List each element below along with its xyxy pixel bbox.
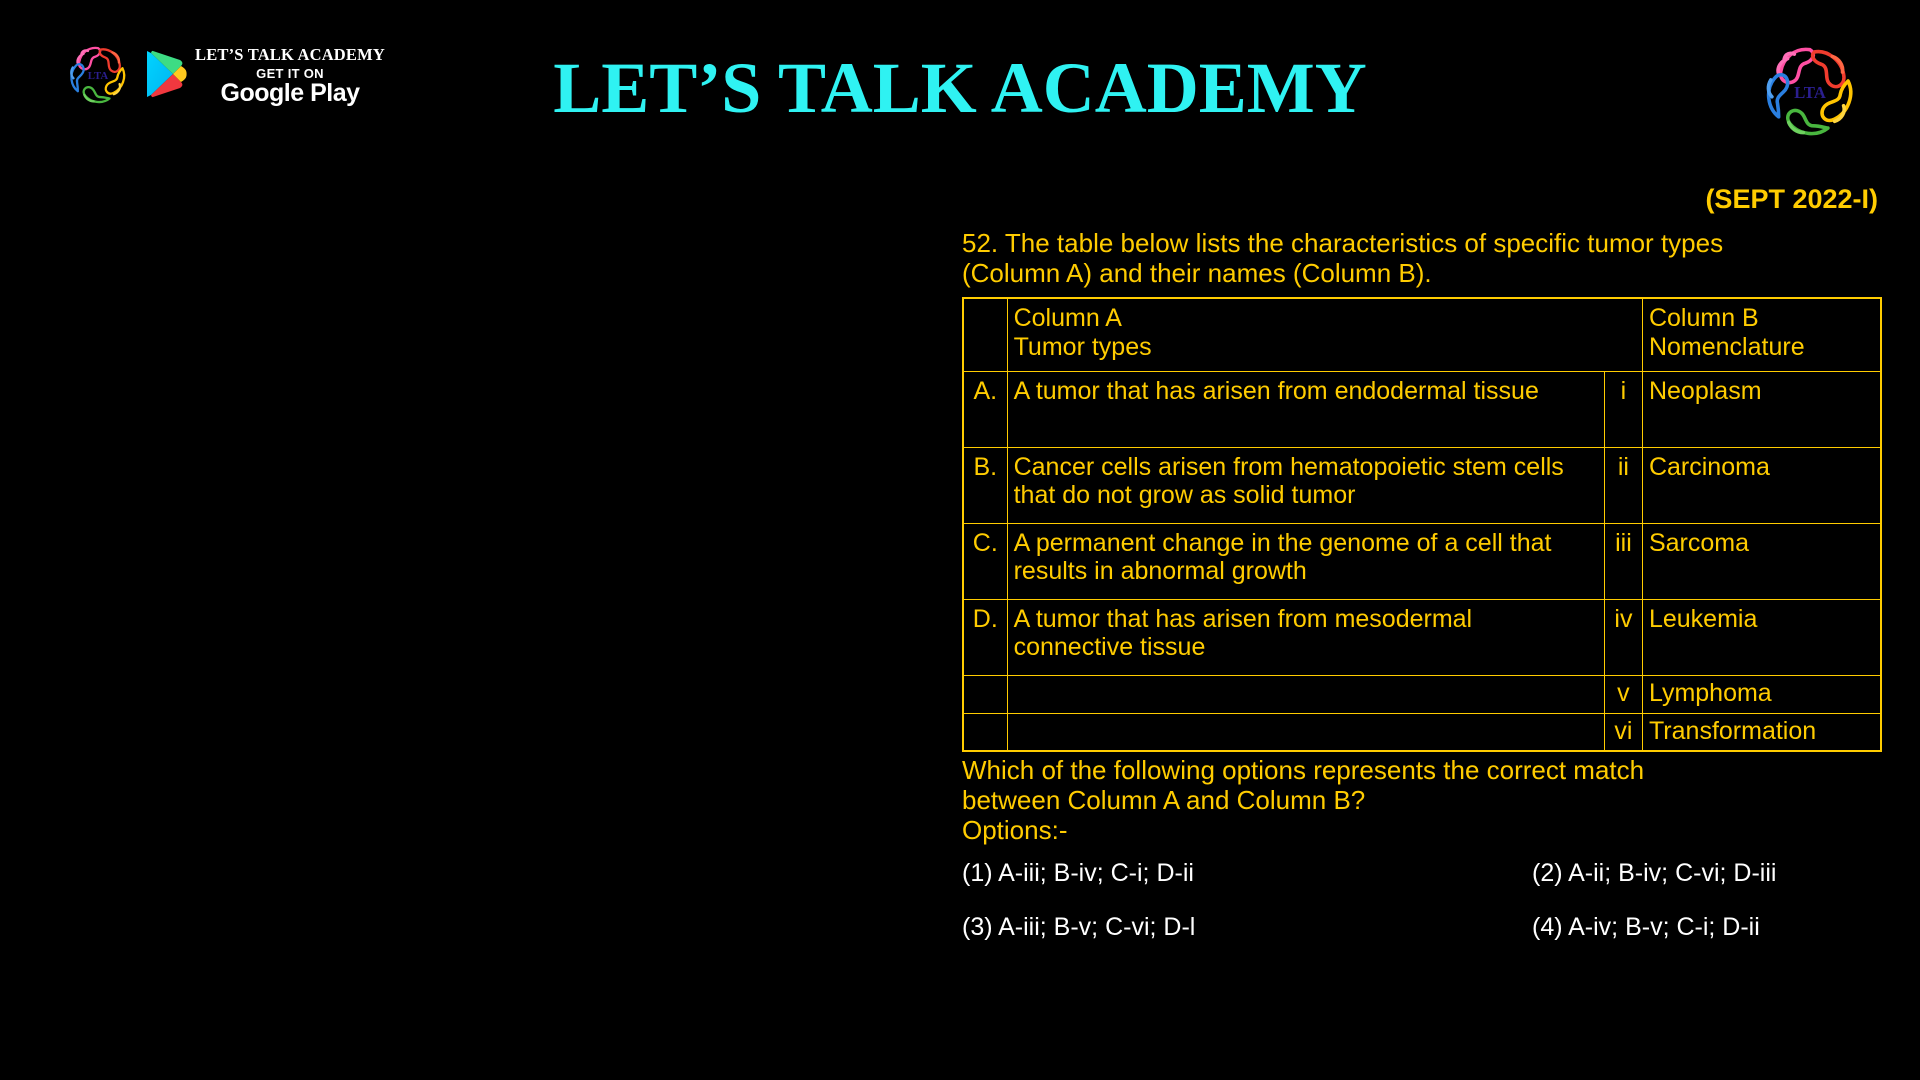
question-tail: Which of the following options represent… [962, 756, 1882, 815]
row-key: B. [963, 447, 1007, 523]
row-key: D. [963, 599, 1007, 675]
exam-session-badge: (SEPT 2022-I) [962, 186, 1882, 213]
row-num: iv [1604, 599, 1642, 675]
row-name: Transformation [1642, 713, 1881, 751]
row-key: C. [963, 523, 1007, 599]
row-desc [1007, 713, 1604, 751]
question-stem-line-2: (Column A) and their names (Column B). [962, 259, 1882, 289]
table-header-column-b: Column B Nomenclature [1642, 298, 1881, 371]
row-name: Carcinoma [1642, 447, 1881, 523]
table-row: B. Cancer cells arisen from hematopoieti… [963, 447, 1881, 523]
column-b-title: Column B [1649, 304, 1874, 332]
table-row: C. A permanent change in the genome of a… [963, 523, 1881, 599]
table-header-column-b-spacer [1604, 298, 1642, 371]
option-2[interactable]: (2) A-ii; B-iv; C-vi; D-iii [1532, 860, 1882, 888]
page-title: LET’S TALK ACADEMY [0, 52, 1920, 124]
option-4[interactable]: (4) A-iv; B-v; C-i; D-ii [1532, 914, 1882, 942]
row-desc: Cancer cells arisen from hematopoietic s… [1007, 447, 1604, 523]
column-a-title: Column A [1014, 304, 1599, 332]
row-name: Lymphoma [1642, 675, 1881, 713]
options-list: (1) A-iii; B-iv; C-i; D-ii (2) A-ii; B-i… [962, 860, 1882, 941]
row-key: A. [963, 371, 1007, 447]
row-name: Leukemia [1642, 599, 1881, 675]
table-row: A. A tumor that has arisen from endoderm… [963, 371, 1881, 447]
row-num: v [1604, 675, 1642, 713]
table-header-column-a: Column A Tumor types [1007, 298, 1604, 371]
row-desc: A tumor that has arisen from endodermal … [1007, 371, 1604, 447]
row-desc [1007, 675, 1604, 713]
row-num: i [1604, 371, 1642, 447]
row-key [963, 675, 1007, 713]
column-b-subtitle: Nomenclature [1649, 333, 1874, 361]
question-tail-line-1: Which of the following options represent… [962, 756, 1882, 786]
option-1[interactable]: (1) A-iii; B-iv; C-i; D-ii [962, 860, 1532, 888]
table-row: vi Transformation [963, 713, 1881, 751]
options-label: Options:- [962, 816, 1882, 846]
page-header: LTA LET’S TALK ACADEMY [0, 0, 1920, 170]
row-num: vi [1604, 713, 1642, 751]
matching-table: Column A Tumor types Column B Nomenclatu… [962, 297, 1882, 752]
lta-protein-logo-icon: LTA [1750, 34, 1870, 151]
table-header-spacer [963, 298, 1007, 371]
row-desc: A permanent change in the genome of a ce… [1007, 523, 1604, 599]
row-num: iii [1604, 523, 1642, 599]
question-stem: 52. The table below lists the characteri… [962, 229, 1882, 288]
row-name: Sarcoma [1642, 523, 1881, 599]
row-name: Neoplasm [1642, 371, 1881, 447]
question-stem-line-1: 52. The table below lists the characteri… [962, 229, 1882, 259]
row-desc: A tumor that has arisen from mesodermal … [1007, 599, 1604, 675]
row-num: ii [1604, 447, 1642, 523]
brand-right: LTA [1750, 34, 1870, 151]
question-tail-line-2: between Column A and Column B? [962, 786, 1882, 816]
row-key [963, 713, 1007, 751]
svg-text:LTA: LTA [1794, 83, 1826, 102]
table-header-row: Column A Tumor types Column B Nomenclatu… [963, 298, 1881, 371]
option-3[interactable]: (3) A-iii; B-v; C-vi; D-l [962, 914, 1532, 942]
table-row: D. A tumor that has arisen from mesoderm… [963, 599, 1881, 675]
column-a-subtitle: Tumor types [1014, 333, 1599, 361]
table-row: v Lymphoma [963, 675, 1881, 713]
question-panel: (SEPT 2022-I) 52. The table below lists … [962, 186, 1882, 941]
